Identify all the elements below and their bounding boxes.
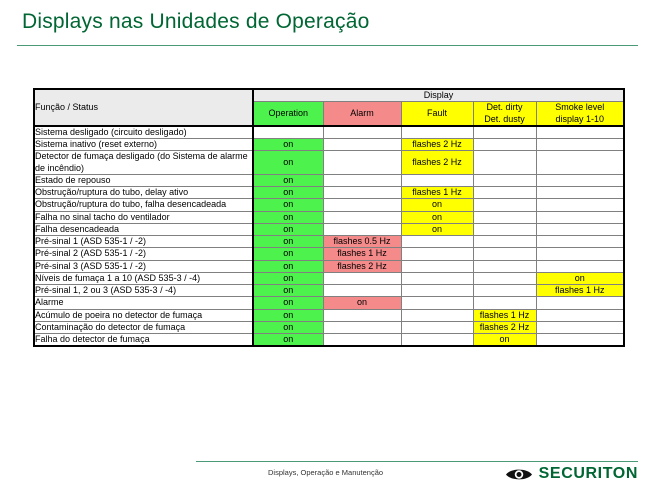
header-funcao-status: Função / Status — [34, 89, 253, 126]
table-row: Contaminação do detector de fumaçaonflas… — [34, 321, 624, 333]
table-row: Falha no sinal tacho do ventiladoronon — [34, 211, 624, 223]
cell-operation: on — [253, 187, 323, 199]
row-label: Obstrução/ruptura do tubo, delay ativo — [34, 187, 253, 199]
table-row: Falha do detector de fumaçaonon — [34, 334, 624, 347]
cell-operation — [253, 126, 323, 139]
cell-fault — [401, 309, 473, 321]
cell-fault: on — [401, 211, 473, 223]
cell-alarm — [323, 309, 401, 321]
cell-fault — [401, 285, 473, 297]
table-row: Falha desencadeadaonon — [34, 223, 624, 235]
cell-operation: on — [253, 199, 323, 211]
cell-alarm: on — [323, 297, 401, 309]
cell-det_dirty: flashes 1 Hz — [473, 309, 536, 321]
table-row: Obstrução/ruptura do tubo, delay ativoon… — [34, 187, 624, 199]
cell-alarm — [323, 126, 401, 139]
cell-alarm — [323, 151, 401, 175]
cell-operation: on — [253, 285, 323, 297]
cell-fault — [401, 236, 473, 248]
cell-fault: on — [401, 223, 473, 235]
header-column-det-dirty: Det. dirty Det. dusty — [473, 102, 536, 126]
table-row: Pré-sinal 1 (ASD 535-1 / -2)onflashes 0.… — [34, 236, 624, 248]
cell-det_dirty — [473, 260, 536, 272]
cell-alarm — [323, 187, 401, 199]
page-title: Displays nas Unidades de Operação — [22, 10, 369, 34]
header-column-smoke-level: Smoke level display 1-10 — [536, 102, 624, 126]
cell-smoke_level — [536, 199, 624, 211]
cell-det_dirty — [473, 297, 536, 309]
cell-det_dirty — [473, 187, 536, 199]
cell-det_dirty: on — [473, 334, 536, 347]
cell-fault — [401, 260, 473, 272]
header-display-group: Display — [253, 89, 624, 102]
securiton-logo: SECURITON — [505, 466, 638, 482]
cell-fault — [401, 334, 473, 347]
cell-fault — [401, 272, 473, 284]
table-header: Função / Status Display Operation Alarm … — [34, 89, 624, 126]
header-column-smoke-level-line2: display 1-10 — [556, 114, 605, 124]
header-column-smoke-level-line1: Smoke level — [555, 102, 604, 112]
header-column-det-dirty-line2: Det. dusty — [484, 114, 525, 124]
table-row: Estado de repousoon — [34, 174, 624, 186]
row-label: Sistema inativo (reset externo) — [34, 139, 253, 151]
header-column-fault: Fault — [401, 102, 473, 126]
cell-smoke_level — [536, 334, 624, 347]
cell-operation: on — [253, 223, 323, 235]
row-label: Detector de fumaça desligado (do Sistema… — [34, 151, 253, 175]
cell-alarm — [323, 321, 401, 333]
cell-operation: on — [253, 151, 323, 175]
cell-operation: on — [253, 334, 323, 347]
display-matrix-table-wrapper: Função / Status Display Operation Alarm … — [33, 88, 623, 347]
table-row: Obstrução/ruptura do tubo, falha desenca… — [34, 199, 624, 211]
cell-fault: on — [401, 199, 473, 211]
cell-smoke_level — [536, 297, 624, 309]
cell-alarm — [323, 223, 401, 235]
cell-alarm: flashes 2 Hz — [323, 260, 401, 272]
row-label: Falha desencadeada — [34, 223, 253, 235]
cell-alarm — [323, 334, 401, 347]
cell-smoke_level — [536, 248, 624, 260]
cell-smoke_level — [536, 236, 624, 248]
row-label: Pré-sinal 2 (ASD 535-1 / -2) — [34, 248, 253, 260]
cell-operation: on — [253, 309, 323, 321]
cell-operation: on — [253, 211, 323, 223]
cell-smoke_level — [536, 174, 624, 186]
cell-smoke_level — [536, 321, 624, 333]
cell-alarm — [323, 199, 401, 211]
cell-smoke_level — [536, 309, 624, 321]
table-row: Sistema desligado (circuito desligado) — [34, 126, 624, 139]
cell-smoke_level — [536, 260, 624, 272]
cell-fault: flashes 1 Hz — [401, 187, 473, 199]
cell-operation: on — [253, 139, 323, 151]
cell-operation: on — [253, 174, 323, 186]
cell-smoke_level — [536, 223, 624, 235]
cell-operation: on — [253, 297, 323, 309]
table-row: Acúmulo de poeira no detector de fumaçao… — [34, 309, 624, 321]
title-divider — [17, 45, 638, 46]
row-label: Pré-sinal 3 (ASD 535-1 / -2) — [34, 260, 253, 272]
cell-operation: on — [253, 260, 323, 272]
cell-fault — [401, 174, 473, 186]
eye-icon — [505, 467, 533, 482]
cell-alarm — [323, 285, 401, 297]
cell-det_dirty — [473, 223, 536, 235]
row-label: Obstrução/ruptura do tubo, falha desenca… — [34, 199, 253, 211]
table-row: Alarmeonon — [34, 297, 624, 309]
cell-alarm: flashes 1 Hz — [323, 248, 401, 260]
cell-alarm — [323, 139, 401, 151]
row-label: Níveis de fumaça 1 a 10 (ASD 535-3 / -4) — [34, 272, 253, 284]
table-row: Pré-sinal 1, 2 ou 3 (ASD 535-3 / -4)onfl… — [34, 285, 624, 297]
cell-det_dirty — [473, 126, 536, 139]
cell-operation: on — [253, 248, 323, 260]
header-column-operation-line1: Operation — [268, 108, 308, 118]
table-row: Sistema inativo (reset externo)onflashes… — [34, 139, 624, 151]
row-label: Pré-sinal 1 (ASD 535-1 / -2) — [34, 236, 253, 248]
table-row: Detector de fumaça desligado (do Sistema… — [34, 151, 624, 175]
cell-smoke_level — [536, 139, 624, 151]
cell-smoke_level — [536, 126, 624, 139]
table-row: Pré-sinal 2 (ASD 535-1 / -2)onflashes 1 … — [34, 248, 624, 260]
table-body: Sistema desligado (circuito desligado)Si… — [34, 126, 624, 347]
table-row: Níveis de fumaça 1 a 10 (ASD 535-3 / -4)… — [34, 272, 624, 284]
cell-smoke_level — [536, 211, 624, 223]
cell-operation: on — [253, 321, 323, 333]
footer-caption: Displays, Operação e Manutenção — [268, 468, 383, 477]
cell-operation: on — [253, 272, 323, 284]
cell-alarm — [323, 211, 401, 223]
row-label: Acúmulo de poeira no detector de fumaça — [34, 309, 253, 321]
cell-fault — [401, 126, 473, 139]
footer-divider — [196, 461, 638, 462]
cell-fault — [401, 248, 473, 260]
cell-operation: on — [253, 236, 323, 248]
row-label: Estado de repouso — [34, 174, 253, 186]
header-column-alarm: Alarm — [323, 102, 401, 126]
table-row: Pré-sinal 3 (ASD 535-1 / -2)onflashes 2 … — [34, 260, 624, 272]
row-label: Pré-sinal 1, 2 ou 3 (ASD 535-3 / -4) — [34, 285, 253, 297]
cell-det_dirty — [473, 151, 536, 175]
cell-smoke_level: flashes 1 Hz — [536, 285, 624, 297]
cell-det_dirty — [473, 285, 536, 297]
row-label: Falha do detector de fumaça — [34, 334, 253, 347]
cell-smoke_level: on — [536, 272, 624, 284]
header-column-fault-line1: Fault — [427, 108, 447, 118]
header-column-operation: Operation — [253, 102, 323, 126]
header-column-det-dirty-line1: Det. dirty — [486, 102, 522, 112]
cell-det_dirty — [473, 248, 536, 260]
cell-det_dirty: flashes 2 Hz — [473, 321, 536, 333]
cell-det_dirty — [473, 199, 536, 211]
cell-fault — [401, 297, 473, 309]
cell-smoke_level — [536, 187, 624, 199]
cell-fault: flashes 2 Hz — [401, 151, 473, 175]
cell-fault: flashes 2 Hz — [401, 139, 473, 151]
brand-name: SECURITON — [539, 466, 638, 482]
cell-det_dirty — [473, 211, 536, 223]
cell-alarm: flashes 0.5 Hz — [323, 236, 401, 248]
display-matrix-table: Função / Status Display Operation Alarm … — [33, 88, 625, 347]
row-label: Alarme — [34, 297, 253, 309]
row-label: Contaminação do detector de fumaça — [34, 321, 253, 333]
row-label: Falha no sinal tacho do ventilador — [34, 211, 253, 223]
header-row-group: Função / Status Display — [34, 89, 624, 102]
cell-det_dirty — [473, 236, 536, 248]
row-label: Sistema desligado (circuito desligado) — [34, 126, 253, 139]
cell-alarm — [323, 272, 401, 284]
cell-det_dirty — [473, 174, 536, 186]
header-column-alarm-line1: Alarm — [350, 108, 374, 118]
cell-det_dirty — [473, 272, 536, 284]
cell-det_dirty — [473, 139, 536, 151]
cell-alarm — [323, 174, 401, 186]
cell-smoke_level — [536, 151, 624, 175]
cell-fault — [401, 321, 473, 333]
